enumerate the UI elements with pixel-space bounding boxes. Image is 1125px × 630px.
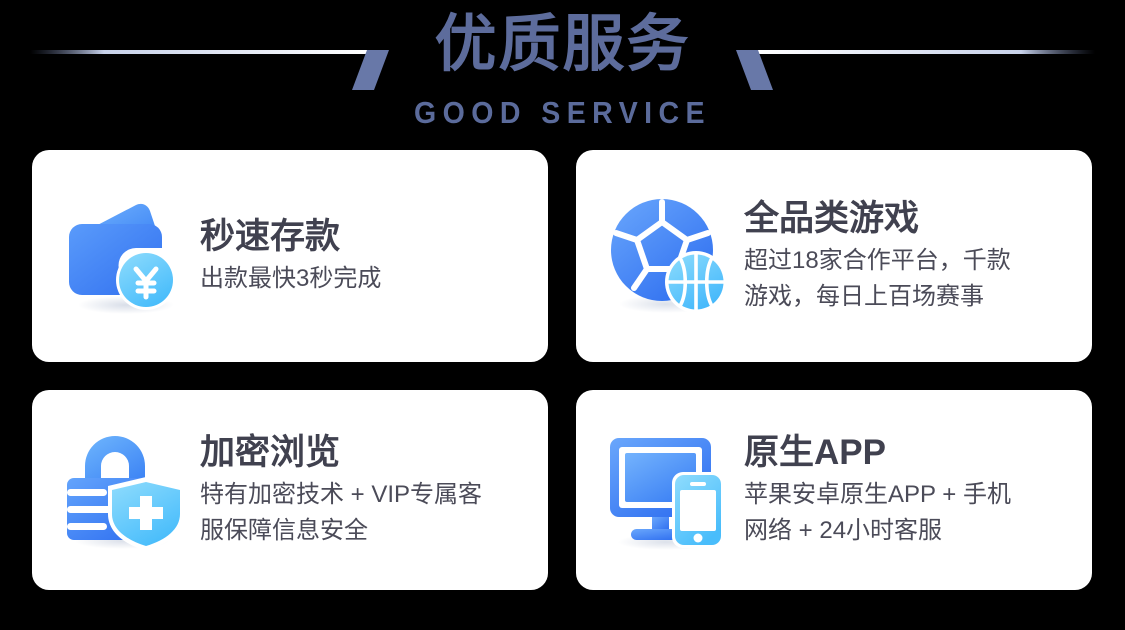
description-line: 网络 + 24小时客服	[744, 513, 1078, 549]
feature-card-text: 全品类游戏 超过18家合作平台，千款 游戏，每日上百场赛事	[744, 197, 1092, 315]
page-subtitle: GOOD SERVICE	[45, 96, 1080, 130]
lock-shield-icon	[60, 426, 188, 554]
feature-card-title: 原生APP	[744, 431, 1078, 475]
header: 优质服务 GOOD SERVICE	[0, 0, 1125, 142]
feature-card-text: 秒速存款 出款最快3秒完成	[200, 215, 548, 297]
feature-card-text: 原生APP 苹果安卓原生APP + 手机 网络 + 24小时客服	[744, 431, 1092, 549]
feature-card-native-app[interactable]: 原生APP 苹果安卓原生APP + 手机 网络 + 24小时客服	[576, 390, 1092, 590]
feature-card-title: 全品类游戏	[744, 197, 1078, 241]
description-line: 出款最快3秒完成	[200, 261, 534, 297]
description-line: 特有加密技术 + VIP专属客	[200, 477, 534, 513]
description-line: 服保障信息安全	[200, 513, 534, 549]
description-line: 游戏，每日上百场赛事	[744, 279, 1078, 315]
monitor-phone-icon	[604, 426, 732, 554]
feature-card-deposit[interactable]: 秒速存款 出款最快3秒完成	[32, 150, 548, 362]
feature-card-description: 出款最快3秒完成	[200, 261, 534, 297]
feature-card-text: 加密浏览 特有加密技术 + VIP专属客 服保障信息安全	[200, 431, 548, 549]
description-line: 苹果安卓原生APP + 手机	[744, 477, 1078, 513]
header-title-wrap: 优质服务	[0, 4, 1125, 86]
feature-card-encryption[interactable]: 加密浏览 特有加密技术 + VIP专属客 服保障信息安全	[32, 390, 548, 590]
feature-card-description: 超过18家合作平台，千款 游戏，每日上百场赛事	[744, 243, 1078, 315]
description-line: 超过18家合作平台，千款	[744, 243, 1078, 279]
page-title: 优质服务	[0, 4, 1125, 86]
feature-card-games[interactable]: 全品类游戏 超过18家合作平台，千款 游戏，每日上百场赛事	[576, 150, 1092, 362]
soccer-basketball-icon	[604, 192, 732, 320]
promo-banner: 优质服务 GOOD SERVICE	[0, 0, 1125, 630]
feature-card-description: 苹果安卓原生APP + 手机 网络 + 24小时客服	[744, 477, 1078, 549]
wallet-yen-icon	[60, 192, 188, 320]
feature-card-description: 特有加密技术 + VIP专属客 服保障信息安全	[200, 477, 534, 549]
feature-card-grid: 秒速存款 出款最快3秒完成	[32, 150, 1092, 590]
feature-card-title: 秒速存款	[200, 215, 534, 259]
feature-card-title: 加密浏览	[200, 431, 534, 475]
